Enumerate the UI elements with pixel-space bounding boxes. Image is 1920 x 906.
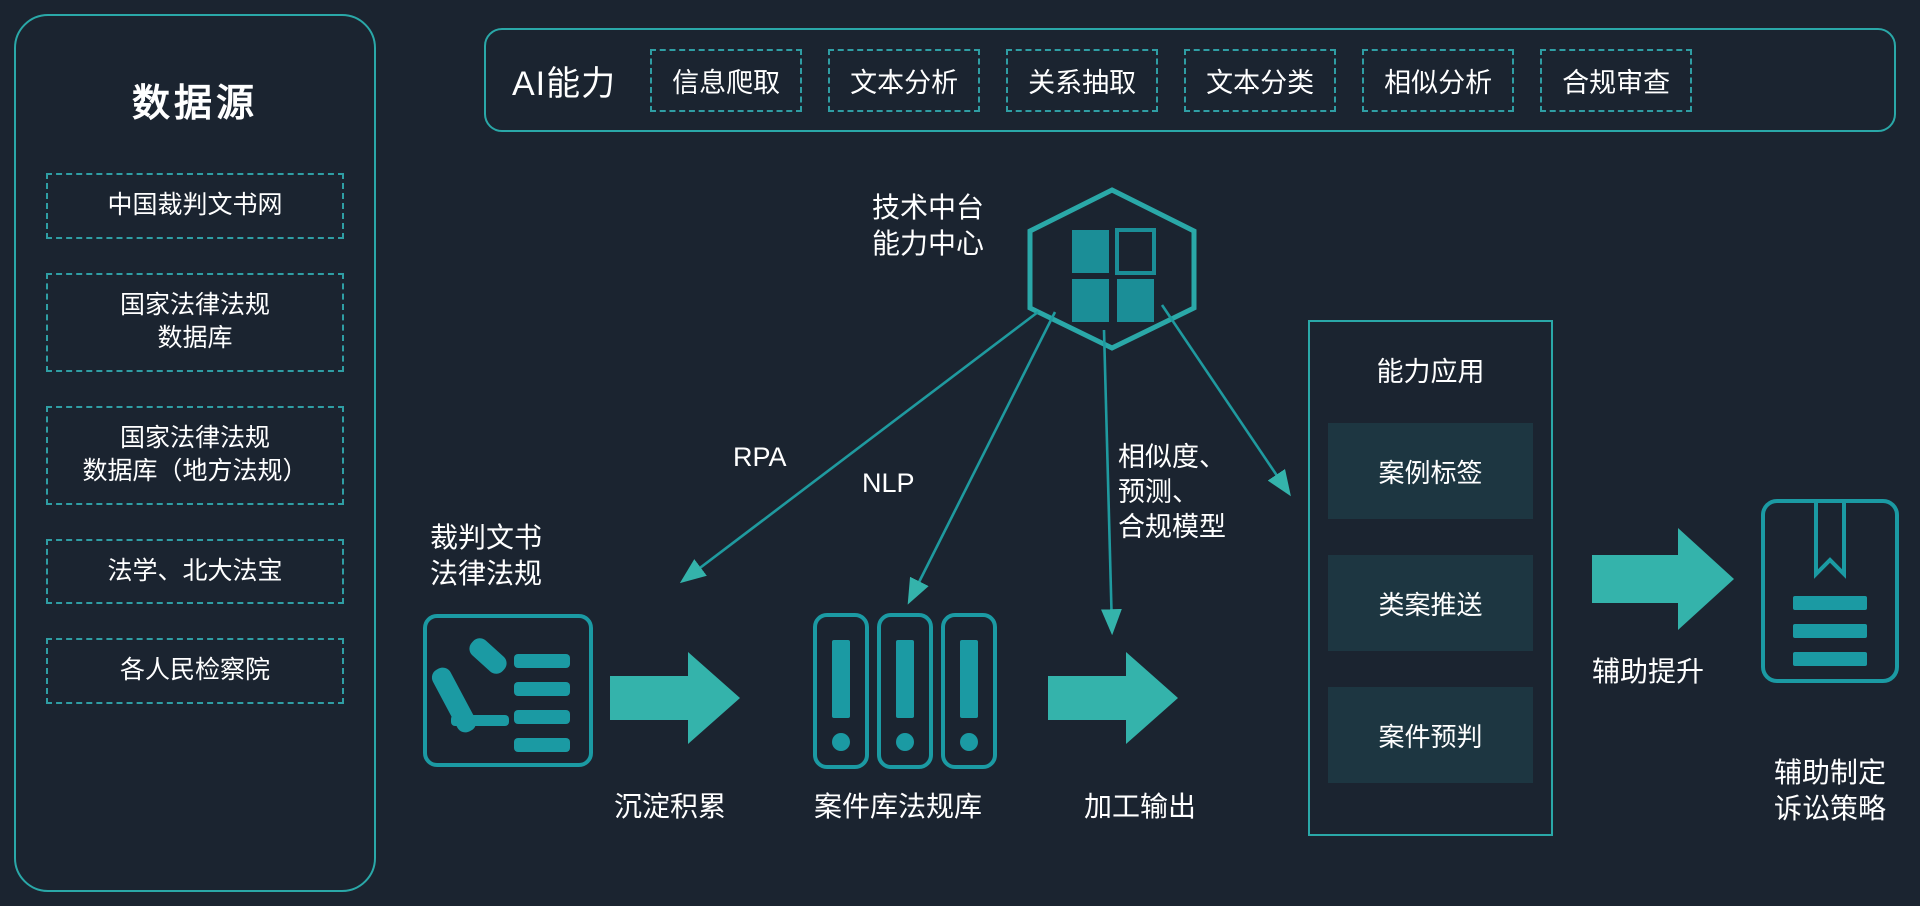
data-source-item-2[interactable]: 国家法律法规 数据库（地方法规） <box>46 406 344 505</box>
pipeline-caption-0: 沉淀积累 <box>614 785 726 825</box>
pipeline-arrow-1-icon <box>610 648 740 753</box>
tech-hub-label: 技术中台 能力中心 <box>838 190 1018 262</box>
capability-item-1[interactable]: 类案推送 <box>1328 555 1533 651</box>
data-source-item-1[interactable]: 国家法律法规 数据库 <box>46 273 344 372</box>
judgment-docs-title: 裁判文书 法律法规 <box>430 520 542 593</box>
pipeline-arrow-2-icon <box>1048 648 1178 753</box>
gavel-document-icon <box>422 613 594 773</box>
ai-capability-chip-2[interactable]: 关系抽取 <box>1006 49 1158 112</box>
capability-item-0[interactable]: 案例标签 <box>1328 423 1533 519</box>
data-source-item-0[interactable]: 中国裁判文书网 <box>46 173 344 239</box>
ai-capability-chip-5[interactable]: 合规审查 <box>1540 49 1692 112</box>
bookmark-document-icon <box>1760 498 1900 689</box>
ai-capability-bar: AI能力 信息爬取 文本分析 关系抽取 文本分类 相似分析 合规审查 <box>484 28 1896 132</box>
data-source-item-4[interactable]: 各人民检察院 <box>46 638 344 704</box>
pipeline-caption-1: 案件库法规库 <box>814 785 982 825</box>
diagram-canvas: 数据源 中国裁判文书网 国家法律法规 数据库 国家法律法规 数据库（地方法规） … <box>0 0 1920 906</box>
data-source-label: 各人民检察院 <box>120 654 270 688</box>
capability-item-2[interactable]: 案件预判 <box>1328 687 1533 783</box>
output-caption: 辅助制定 诉讼策略 <box>1740 755 1920 828</box>
output-arrow-caption: 辅助提升 <box>1592 650 1704 690</box>
capability-panel-title: 能力应用 <box>1328 350 1533 389</box>
data-source-label: 中国裁判文书网 <box>107 189 282 223</box>
edge-process <box>1104 330 1112 630</box>
data-source-label: 国家法律法规 数据库 <box>120 289 270 356</box>
edge-label-nlp: NLP <box>862 466 915 501</box>
data-source-label: 法学、北大法宝 <box>107 555 282 589</box>
edge-label-model: 相似度、 预测、 合规模型 <box>1118 440 1226 545</box>
data-source-label: 国家法律法规 数据库（地方法规） <box>82 422 307 489</box>
server-rack-icon <box>812 612 998 775</box>
data-source-panel: 数据源 中国裁判文书网 国家法律法规 数据库 国家法律法规 数据库（地方法规） … <box>14 14 376 892</box>
edge-label-rpa: RPA <box>733 440 787 475</box>
ai-capability-title: AI能力 <box>512 56 616 105</box>
data-source-item-3[interactable]: 法学、北大法宝 <box>46 539 344 605</box>
ai-capability-chip-1[interactable]: 文本分析 <box>828 49 980 112</box>
data-source-title: 数据源 <box>46 72 344 127</box>
capability-application-panel: 能力应用 案例标签 类案推送 案件预判 <box>1308 320 1553 836</box>
hexagon-four-squares-icon <box>1022 186 1202 357</box>
ai-capability-chip-0[interactable]: 信息爬取 <box>650 49 802 112</box>
ai-capability-chip-3[interactable]: 文本分类 <box>1184 49 1336 112</box>
output-arrow-icon <box>1592 525 1734 638</box>
pipeline-caption-2: 加工输出 <box>1084 785 1196 825</box>
ai-capability-chip-4[interactable]: 相似分析 <box>1362 49 1514 112</box>
